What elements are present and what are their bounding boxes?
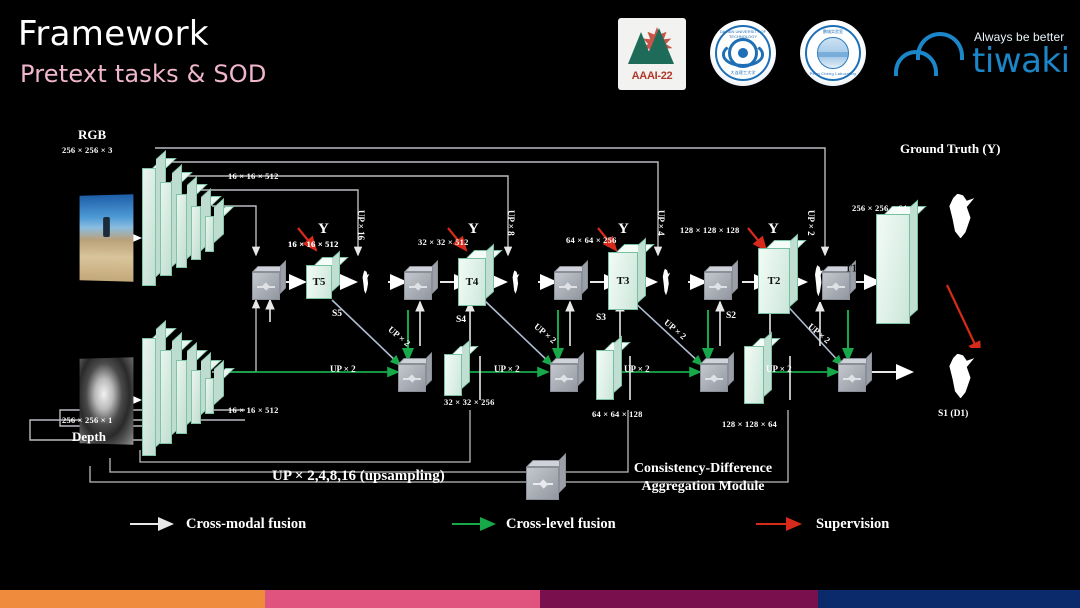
encoder-dim-depth: 16 × 16 × 512 xyxy=(228,406,279,415)
top-dim-2: 32 × 32 × 512 xyxy=(418,238,469,247)
legend-cda-line1: Consistency-Difference xyxy=(608,460,798,478)
cda-module-top-5 xyxy=(252,266,286,300)
up-inline-1: UP × 2 xyxy=(330,365,356,374)
supervision-y-4: Y xyxy=(468,222,479,237)
t3-label: T3 xyxy=(608,275,638,287)
cda-module-bottom-1 xyxy=(838,358,872,392)
up-4-label: UP × 4 xyxy=(656,210,665,236)
depth-title: Depth xyxy=(72,430,106,443)
rgb-encoder-block-3 xyxy=(176,194,187,268)
s4-label: S4 xyxy=(456,316,466,326)
rgb-encoder-block-2 xyxy=(160,182,172,276)
aaai-logo: AAAI-22 xyxy=(618,18,686,90)
cda-module-bottom-4 xyxy=(398,358,432,392)
page-subtitle: Pretext tasks & SOD xyxy=(20,60,267,88)
depth-encoder-block-3 xyxy=(176,360,187,434)
depth-encoder-block-4 xyxy=(191,370,201,424)
pcl-logo-bottom-text: Peng Cheng Laboratory xyxy=(807,71,860,76)
up-8-label: UP × 8 xyxy=(506,210,515,236)
depth-dim: 256 × 256 × 1 xyxy=(62,416,113,425)
s3-label: S3 xyxy=(596,314,606,324)
cda-module-top-4 xyxy=(404,266,438,300)
s1-d1-label: S1 (D1) xyxy=(938,410,968,420)
dut-logo-bottom-text: 大连理工大学 xyxy=(717,70,770,76)
supervision-y-2: Y xyxy=(768,222,779,237)
saliency-thumb-5 xyxy=(360,268,372,298)
decoder-panel-b3 xyxy=(596,350,614,400)
prediction-image xyxy=(940,348,982,404)
cda-module-top-2 xyxy=(704,266,738,300)
dut-seal-icon: DALIAN UNIVERSITY OF TECHNOLOGY 大连理工大学 xyxy=(715,25,772,82)
supervision-y-5: Y xyxy=(318,222,329,237)
t1-label: T1 xyxy=(834,264,868,275)
top-dim-5: 256 × 256 × 64 xyxy=(852,204,907,213)
rgb-encoder-block-4 xyxy=(191,206,201,260)
decoder-panel-b4 xyxy=(444,354,462,396)
rgb-dim: 256 × 256 × 3 xyxy=(62,146,113,155)
tiwaki-brand: tiwaki xyxy=(972,44,1070,78)
decoder-panel-t4: T4 xyxy=(458,258,486,306)
decoder-panel-b2 xyxy=(744,346,764,404)
saliency-thumb-3 xyxy=(660,266,673,300)
ground-truth-title: Ground Truth (Y) xyxy=(900,142,1000,155)
t5-label: T5 xyxy=(306,276,332,288)
slide-root: Framework Pretext tasks & SOD AAAI-22 DA… xyxy=(0,0,1080,608)
up-inline-4: UP × 2 xyxy=(766,365,792,374)
legend-cda-cube-icon xyxy=(526,460,566,500)
saliency-thumb-4 xyxy=(510,268,522,298)
top-dim-3: 64 × 64 × 256 xyxy=(566,236,617,245)
dut-logo-top-text: DALIAN UNIVERSITY OF TECHNOLOGY xyxy=(717,29,770,39)
colorbar-segment-orange xyxy=(0,590,265,608)
colorbar-segment-purple xyxy=(540,590,818,608)
up-inline-3: UP × 2 xyxy=(624,365,650,374)
encoder-dim-rgb: 16 × 16 × 512 xyxy=(228,172,279,181)
s5-label: S5 xyxy=(332,310,342,320)
decoder-panel-t3: T3 xyxy=(608,252,638,310)
tiwaki-logo: Always be better tiwaki xyxy=(890,20,1065,90)
legend-cross-level: Cross-level fusion xyxy=(506,516,616,533)
colorbar-segment-navy xyxy=(818,590,1080,608)
cda-module-bottom-2 xyxy=(700,358,734,392)
pcl-seal-icon: 鹏城实验室 Peng Cheng Laboratory xyxy=(805,25,862,82)
depth-encoder-block-1 xyxy=(142,338,156,456)
legend-upsampling: UP × 2,4,8,16 (upsampling) xyxy=(272,468,445,485)
legend-supervision: Supervision xyxy=(816,516,889,533)
colorbar-segment-pink xyxy=(265,590,540,608)
depth-encoder-block-5 xyxy=(205,378,214,414)
pcl-logo: 鹏城实验室 Peng Cheng Laboratory xyxy=(800,20,866,86)
top-dim-4: 128 × 128 × 128 xyxy=(680,226,739,235)
depth-encoder-block-2 xyxy=(160,350,172,444)
cloud-icon-2 xyxy=(916,32,964,60)
aaai-mark-icon xyxy=(624,26,680,68)
bottom-colorbar xyxy=(0,590,1080,608)
bottom-dim-2: 64 × 64 × 128 xyxy=(592,410,643,419)
bottom-dim-3: 128 × 128 × 64 xyxy=(722,420,777,429)
rgb-encoder-block-1 xyxy=(142,168,156,286)
page-title: Framework xyxy=(18,14,209,54)
s2-label: S2 xyxy=(726,312,736,322)
t4-label: T4 xyxy=(458,276,486,288)
legend-cda-line2: Aggregation Module xyxy=(608,478,798,496)
up-2-label: UP × 2 xyxy=(806,210,815,236)
ground-truth-image xyxy=(940,188,982,244)
dut-logo: DALIAN UNIVERSITY OF TECHNOLOGY 大连理工大学 xyxy=(710,20,776,86)
t2-label: T2 xyxy=(758,275,790,287)
cda-module-top-3 xyxy=(554,266,588,300)
pcl-logo-top-text: 鹏城实验室 xyxy=(807,29,860,35)
up-inline-2: UP × 2 xyxy=(494,365,520,374)
aaai-logo-text: AAAI-22 xyxy=(632,70,673,82)
decoder-panel-t1: T1 xyxy=(876,214,910,324)
legend-cross-modal: Cross-modal fusion xyxy=(186,516,306,533)
rgb-input-image xyxy=(80,194,134,282)
decoder-panel-t2: T2 xyxy=(758,248,790,314)
rgb-title: RGB xyxy=(78,128,106,141)
rgb-encoder-block-5 xyxy=(205,216,214,252)
top-dim-1: 16 × 16 × 512 xyxy=(288,240,339,249)
up-16-label: UP × 16 xyxy=(356,210,365,240)
decoder-panel-t5: T5 xyxy=(306,265,332,299)
cda-module-bottom-3 xyxy=(550,358,584,392)
bottom-dim-1: 32 × 32 × 256 xyxy=(444,398,495,407)
supervision-y-3: Y xyxy=(618,222,629,237)
